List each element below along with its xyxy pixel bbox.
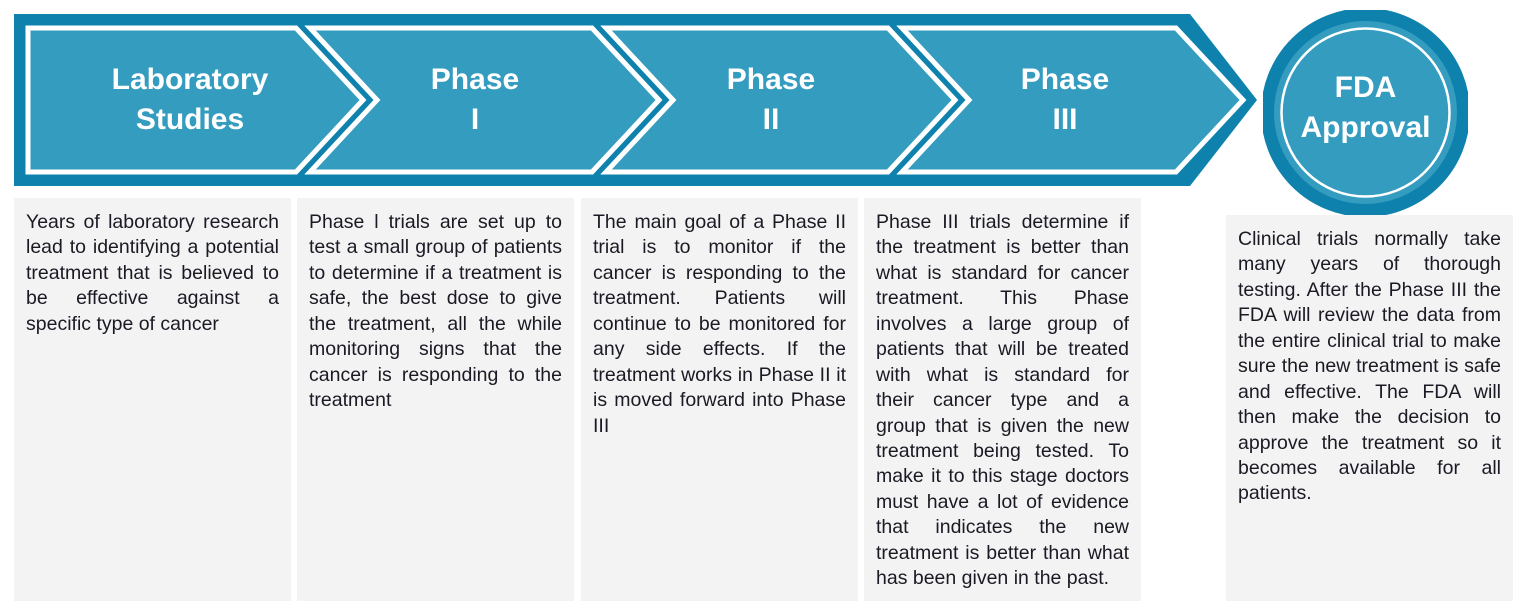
stage-shape-laboratory-studies[interactable]	[28, 28, 363, 172]
description-panel-phase-2: The main goal of a Phase II trial is to …	[581, 198, 858, 601]
description-panel-phase-3: Phase III trials determine if the treatm…	[864, 198, 1141, 601]
stage-label-fda-approval: FDA Approval	[1263, 68, 1468, 147]
description-text-laboratory-studies: Years of laboratory research lead to ide…	[26, 210, 279, 337]
description-panel-laboratory-studies: Years of laboratory research lead to ide…	[14, 198, 291, 601]
stage-shape-fda-approval[interactable]: FDA Approval	[1263, 10, 1468, 215]
description-text-fda-approval: Clinical trials normally take many years…	[1238, 227, 1501, 507]
description-panel-fda-approval: Clinical trials normally take many years…	[1226, 215, 1513, 601]
process-flow-diagram: Laboratory Studies Phase I Phase II Phas…	[0, 0, 1536, 608]
description-panel-phase-1: Phase l trials are set up to test a smal…	[297, 198, 574, 601]
description-text-phase-1: Phase l trials are set up to test a smal…	[309, 210, 562, 414]
description-text-phase-2: The main goal of a Phase II trial is to …	[593, 210, 846, 439]
description-text-phase-3: Phase III trials determine if the treatm…	[876, 210, 1129, 592]
